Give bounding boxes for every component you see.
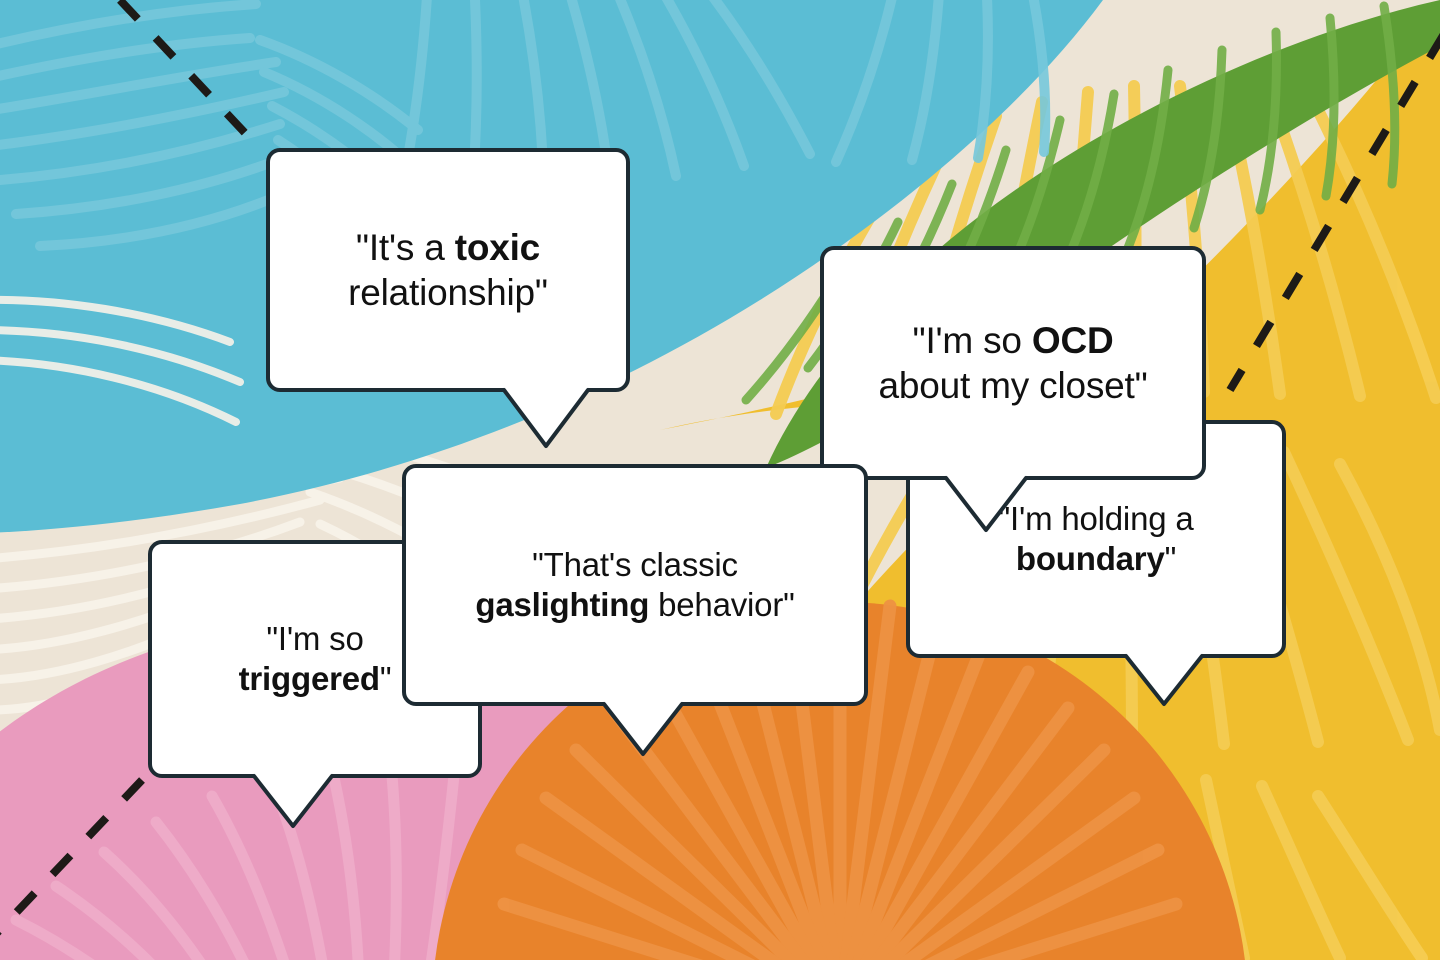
speech-bubble-toxic[interactable]: "It's a toxic relationship"	[266, 148, 630, 392]
line-2: boundary"	[1016, 540, 1176, 577]
speech-bubble-boundary-text: "I'm holding a boundary"	[985, 499, 1208, 580]
line-2: about my closet"	[878, 365, 1147, 406]
speech-bubble-triggered-text: "I'm so triggered"	[225, 619, 406, 700]
speech-bubble-gaslighting[interactable]: "That's classic gaslighting behavior"	[402, 464, 868, 706]
line-1: "I'm so	[266, 620, 363, 657]
speech-bubbles-layer: "It's a toxic relationship" "I'm so OCD …	[0, 0, 1440, 960]
line-2: relationship"	[348, 272, 548, 313]
speech-bubble-triggered-tail	[250, 772, 342, 834]
line-2: triggered"	[239, 660, 392, 697]
speech-bubble-ocd-text: "I'm so OCD about my closet"	[864, 318, 1161, 408]
speech-bubble-toxic-text: "It's a toxic relationship"	[334, 225, 562, 315]
speech-bubble-boundary-tail	[1122, 652, 1212, 712]
line-1: "That's classic	[532, 546, 738, 583]
speech-bubble-gaslighting-tail	[600, 700, 692, 762]
line-1: "I'm holding a	[999, 500, 1194, 537]
line-1: "I'm so OCD	[913, 320, 1114, 361]
line-2: gaslighting behavior"	[475, 586, 794, 623]
illustration-canvas: "It's a toxic relationship" "I'm so OCD …	[0, 0, 1440, 960]
line-1: "It's a toxic	[356, 227, 540, 268]
speech-bubble-ocd[interactable]: "I'm so OCD about my closet"	[820, 246, 1206, 480]
speech-bubble-toxic-tail	[500, 386, 600, 454]
speech-bubble-gaslighting-text: "That's classic gaslighting behavior"	[461, 545, 808, 626]
